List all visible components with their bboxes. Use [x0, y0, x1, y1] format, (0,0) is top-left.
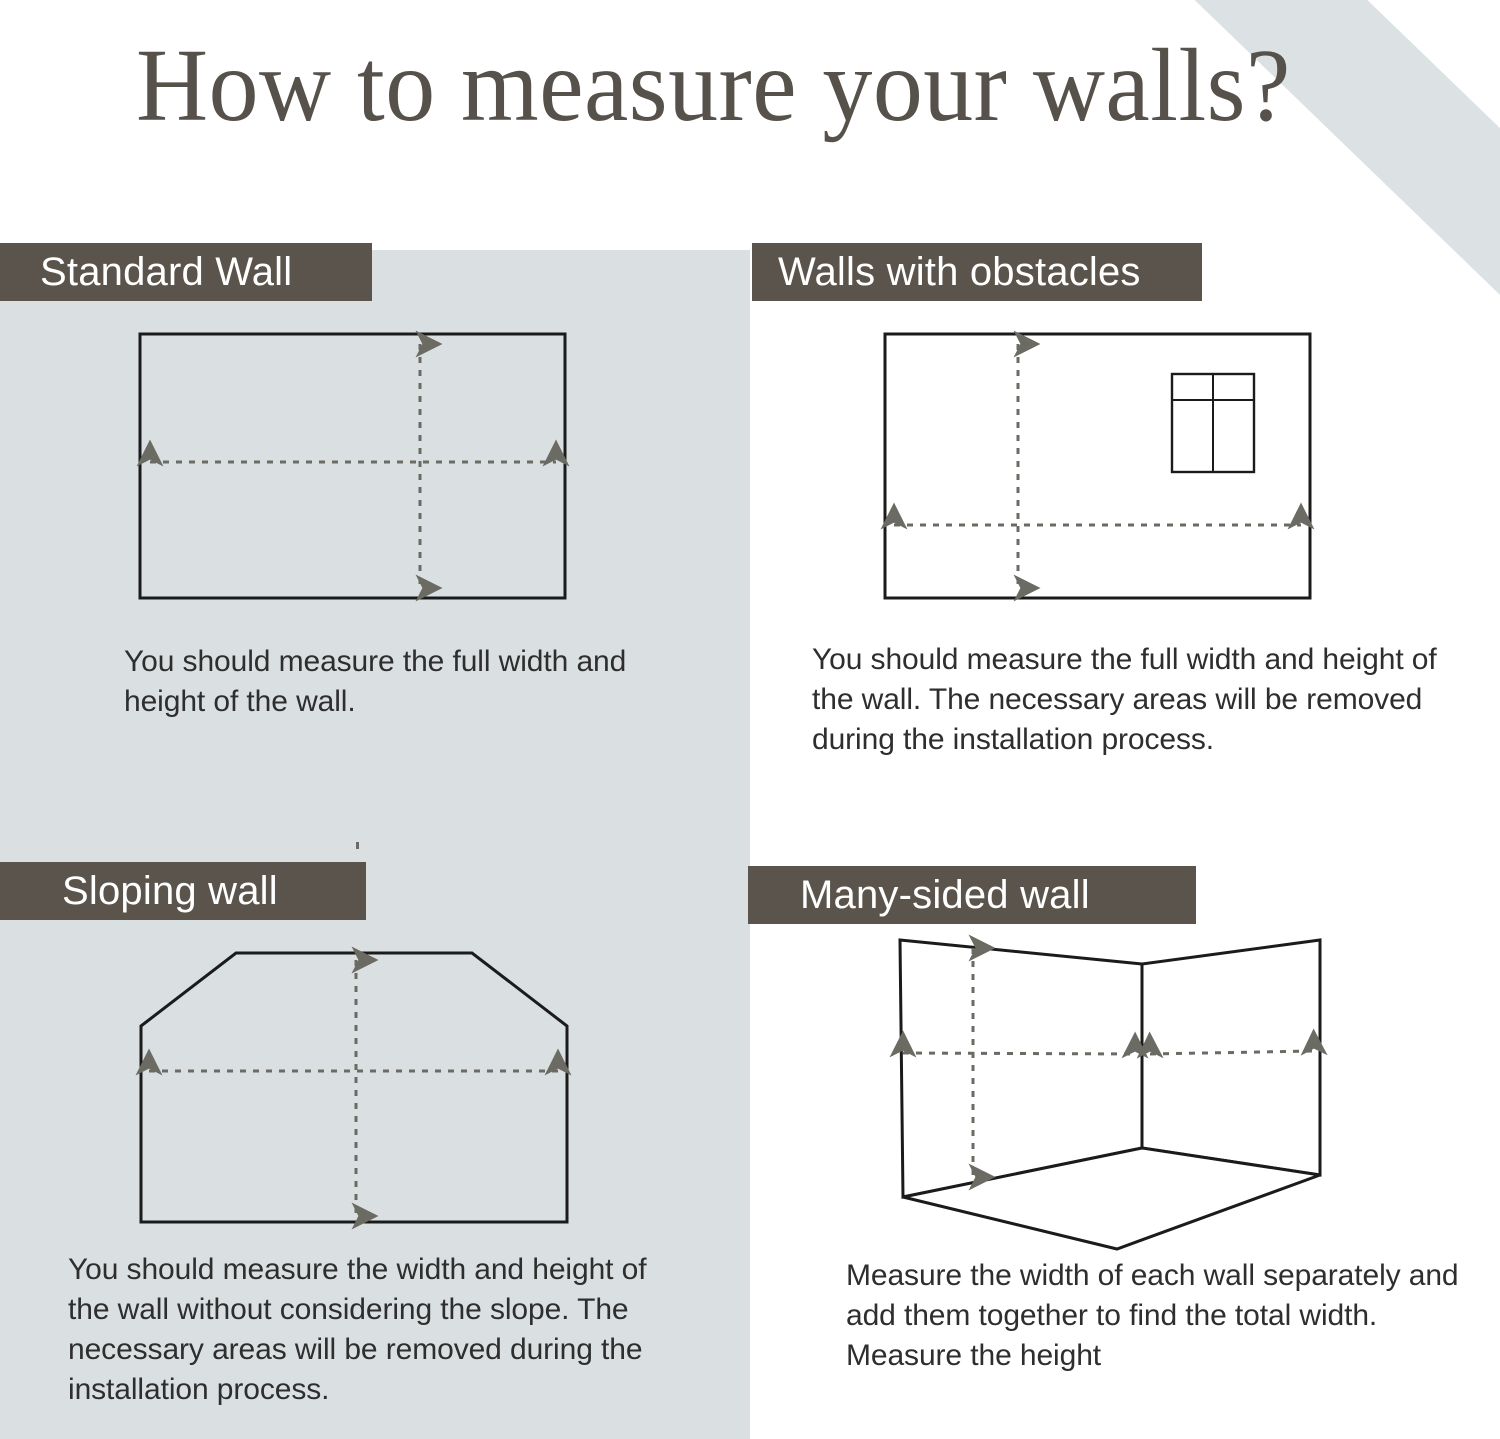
- section-label-sloping-wall: Sloping wall: [0, 862, 366, 920]
- section-label-text: Many-sided wall: [800, 875, 1090, 915]
- diagram-walls-with-obstacles: [860, 320, 1340, 620]
- diagram-sloping-wall: [120, 930, 600, 1250]
- caption-many-sided-wall: Measure the width of each wall separatel…: [846, 1256, 1466, 1376]
- section-label-text: Walls with obstacles: [778, 252, 1141, 292]
- caption-standard-wall: You should measure the full width and he…: [124, 642, 644, 722]
- diagram-standard-wall: [120, 320, 590, 620]
- caption-walls-with-obstacles: You should measure the full width and he…: [812, 640, 1472, 760]
- section-label-walls-with-obstacles: Walls with obstacles: [752, 243, 1202, 301]
- infographic-page: How to measure your walls? Standard Wall…: [0, 0, 1500, 1439]
- section-label-text: Sloping wall: [62, 871, 278, 911]
- section-label-text: Standard Wall: [40, 252, 292, 292]
- stray-mark: [356, 842, 359, 849]
- page-title: How to measure your walls?: [136, 26, 1291, 146]
- section-label-standard-wall: Standard Wall: [0, 243, 372, 301]
- section-label-many-sided-wall: Many-sided wall: [748, 866, 1196, 924]
- diagram-many-sided-wall: [870, 920, 1350, 1265]
- caption-sloping-wall: You should measure the width and height …: [68, 1250, 688, 1410]
